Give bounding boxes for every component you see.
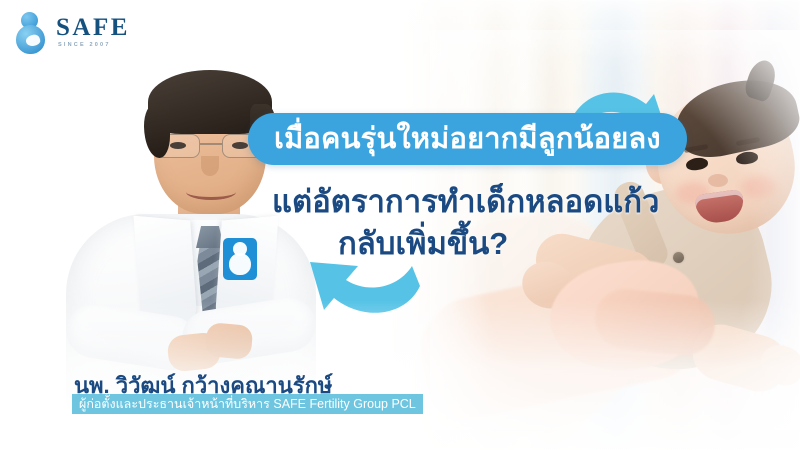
promo-banner: เมื่อคนรุ่นใหม่อยากมีลูกน้อยลง แต่อัตราก…	[0, 0, 800, 450]
speaker-credit-block: นพ. วิวัฒน์ กว้างคณานุรักษ์ ผู้ก่อตั้งแล…	[0, 0, 800, 450]
speaker-title-bar: ผู้ก่อตั้งและประธานเจ้าหน้าที่บริหาร SAF…	[72, 394, 423, 414]
speaker-title-text: ผู้ก่อตั้งและประธานเจ้าหน้าที่บริหาร SAF…	[79, 398, 416, 411]
